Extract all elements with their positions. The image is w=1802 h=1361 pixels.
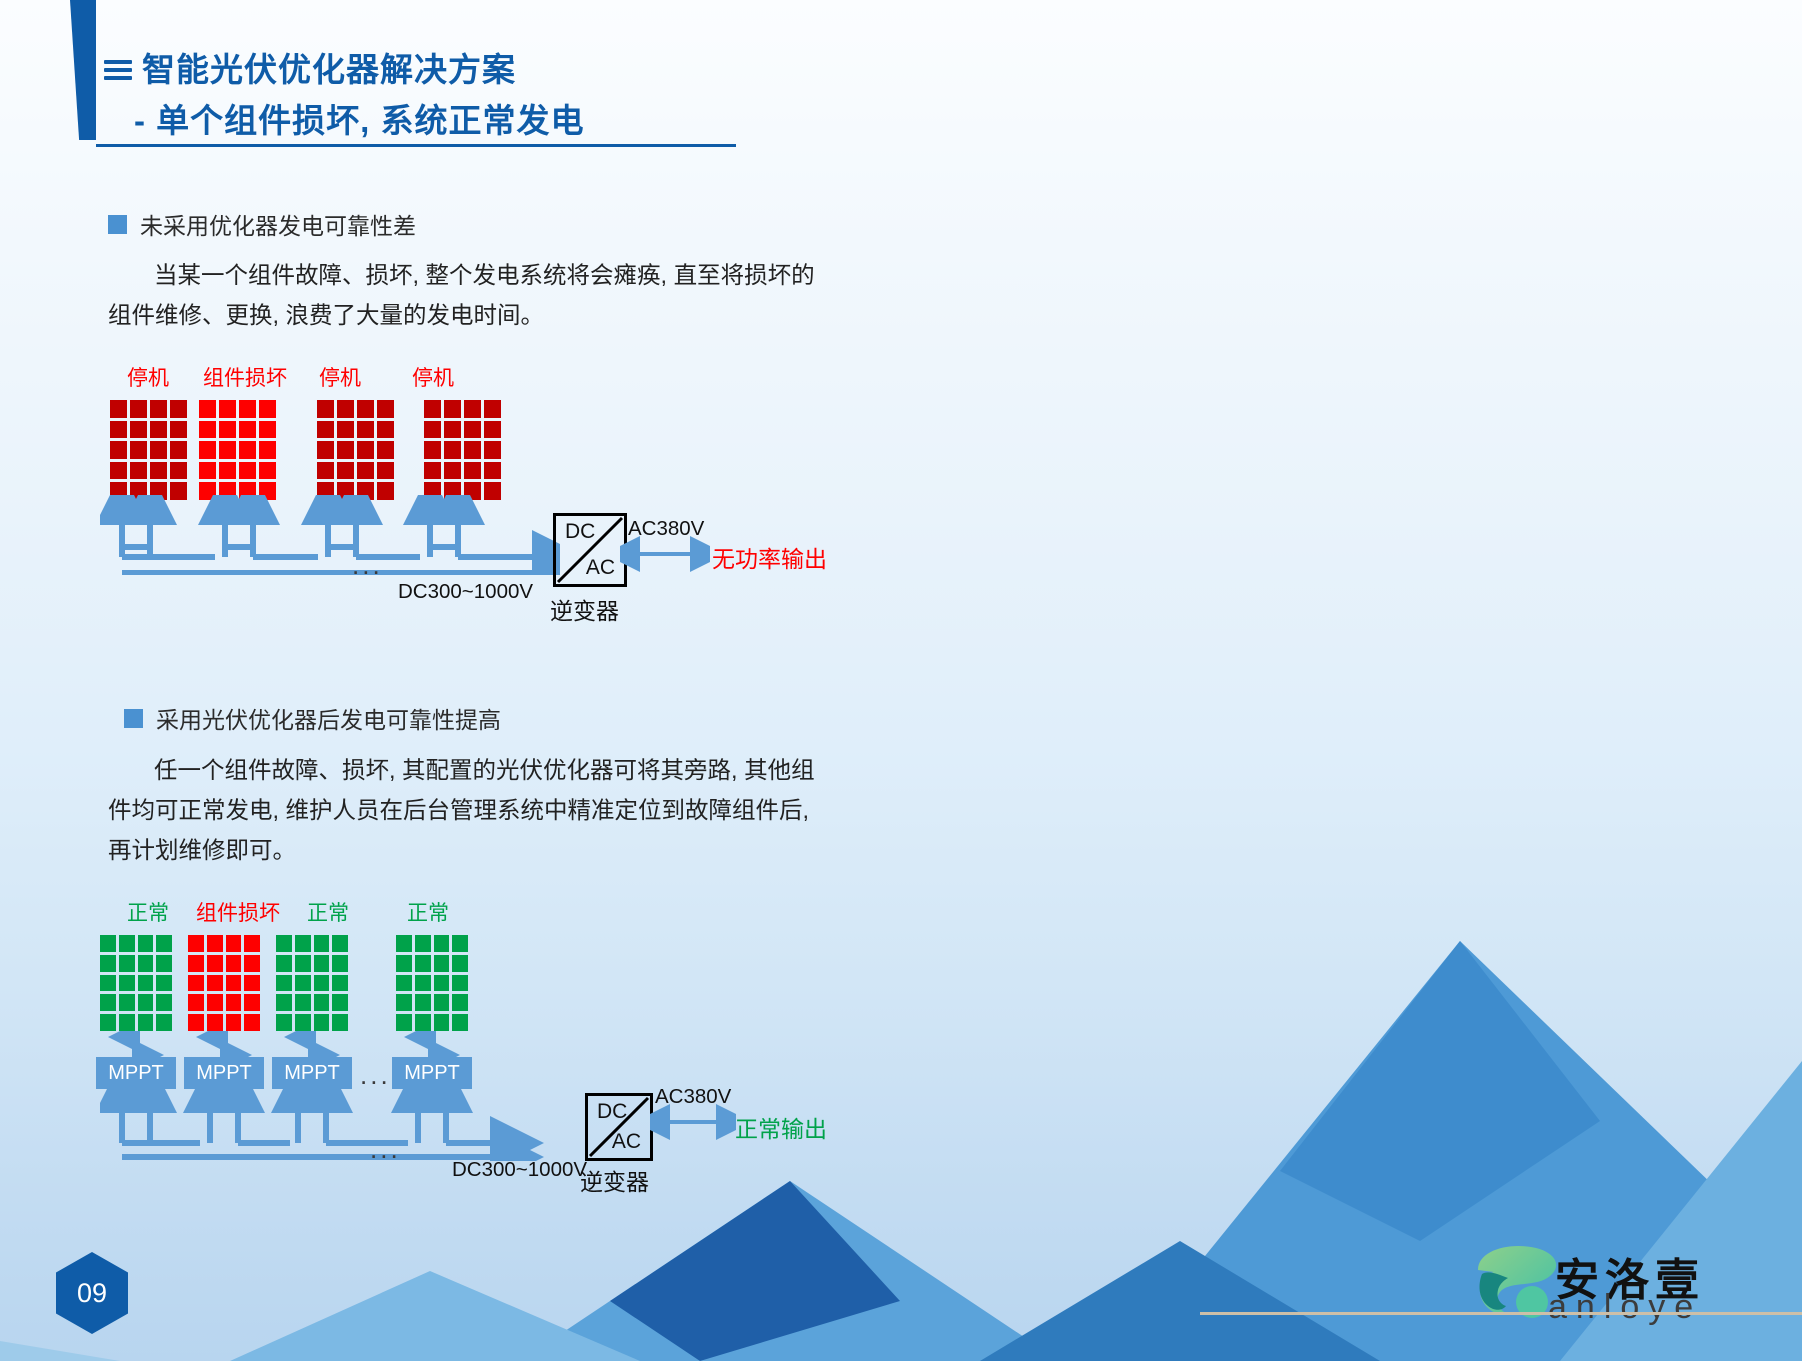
mppt-label-4: MPPT	[404, 1062, 460, 1085]
panel2-label-3: 正常	[290, 897, 366, 927]
mppt-box-2: MPPT	[184, 1057, 264, 1089]
brand-logo-en: anloye	[1548, 1288, 1702, 1327]
pv-panel2-3	[276, 935, 348, 1031]
inverter-ac-label-2: AC	[612, 1130, 641, 1154]
section2-heading: 采用光伏优化器后发电可靠性提高	[124, 701, 501, 735]
ellipsis-2: ...	[370, 1144, 401, 1154]
section1-heading-label: 未采用优化器发电可靠性差	[140, 207, 416, 241]
section1-paragraph-line2: 组件维修、更换, 浪费了大量的发电时间。	[108, 295, 544, 335]
section1-paragraph-line1: 当某一个组件故障、损坏, 整个发电系统将会瘫痪, 直至将损坏的	[108, 255, 815, 295]
section1-paragraph-line1-text: 当某一个组件故障、损坏, 整个发电系统将会瘫痪, 直至将损坏的	[154, 262, 815, 288]
panel-label-3: 停机	[300, 362, 380, 392]
inverter-dc-label-2: DC	[597, 1100, 627, 1124]
section1-heading: 未采用优化器发电可靠性差	[108, 207, 416, 241]
inverter-box-1: DC AC	[553, 513, 627, 587]
footer-divider	[1200, 1312, 1802, 1315]
ellipsis-1: ...	[352, 560, 383, 570]
wiring-diagram-1	[100, 495, 560, 575]
panel-label-2: 组件损坏	[190, 362, 300, 392]
section1-paragraph-line2-text: 组件维修、更换, 浪费了大量的发电时间。	[108, 302, 544, 328]
mppt-box-1: MPPT	[96, 1057, 176, 1089]
pv-panel-1	[110, 400, 187, 500]
panel2-label-1: 正常	[110, 897, 186, 927]
section2-paragraph-line1-text: 任一个组件故障、损坏, 其配置的光伏优化器可将其旁路, 其他组	[154, 757, 815, 783]
ac-arrow-2	[650, 1104, 736, 1140]
slide-root: 智能光伏优化器解决方案 - 单个组件损坏, 系统正常发电 未采用优化器发电可靠性…	[0, 0, 1802, 1361]
pv-panel-2	[199, 400, 276, 500]
section2-heading-label: 采用光伏优化器后发电可靠性提高	[156, 701, 501, 735]
ac-arrow-1	[620, 532, 710, 572]
bullet-square-icon	[108, 215, 127, 234]
mppt-label-2: MPPT	[196, 1062, 252, 1085]
section2-paragraph-line3: 再计划维修即可。	[108, 830, 296, 870]
section2-paragraph-line1: 任一个组件故障、损坏, 其配置的光伏优化器可将其旁路, 其他组	[108, 750, 815, 790]
pv-panel-3	[317, 400, 394, 500]
dc-voltage-label-1: DC300~1000V	[398, 580, 533, 604]
panel2-label-2: 组件损坏	[188, 897, 288, 927]
pv-panel-4	[424, 400, 501, 500]
dc-voltage-label-2: DC300~1000V	[452, 1158, 587, 1182]
mppt-box-4: MPPT	[392, 1057, 472, 1089]
inverter-name-2: 逆变器	[580, 1163, 649, 1197]
mppt-box-3: MPPT	[272, 1057, 352, 1089]
header-accent-bar	[70, 0, 96, 140]
hamburger-icon	[104, 56, 132, 84]
pv-panel2-2	[188, 935, 260, 1031]
header-divider	[96, 144, 736, 147]
wiring-diagram-2	[100, 1089, 580, 1161]
pv-panel2-1	[100, 935, 172, 1031]
inverter-name-1: 逆变器	[550, 592, 619, 626]
mppt-label-1: MPPT	[108, 1062, 164, 1085]
panel2-label-4: 正常	[390, 897, 466, 927]
bullet-square-icon-2	[124, 709, 143, 728]
ellipsis-mppt: ...	[360, 1070, 391, 1080]
section2-paragraph-line3-text: 再计划维修即可。	[108, 837, 296, 863]
output-label-2: 正常输出	[735, 1110, 827, 1144]
inverter-ac-label-1: AC	[586, 556, 615, 580]
page-title: 智能光伏优化器解决方案	[142, 50, 516, 90]
panel-label-4: 停机	[393, 362, 473, 392]
section2-paragraph-line2: 件均可正常发电, 维护人员在后台管理系统中精准定位到故障组件后,	[108, 790, 809, 830]
section2-paragraph-line2-text: 件均可正常发电, 维护人员在后台管理系统中精准定位到故障组件后,	[108, 797, 809, 823]
pv-panel2-4	[396, 935, 468, 1031]
page-subtitle: - 单个组件损坏, 系统正常发电	[134, 101, 585, 141]
inverter-dc-label-1: DC	[565, 520, 595, 544]
mppt-label-3: MPPT	[284, 1062, 340, 1085]
inverter-box-2: DC AC	[585, 1093, 653, 1161]
panel-label-1: 停机	[108, 362, 188, 392]
header-text-block: 智能光伏优化器解决方案 - 单个组件损坏, 系统正常发电	[104, 50, 585, 141]
output-label-1: 无功率输出	[712, 540, 827, 574]
